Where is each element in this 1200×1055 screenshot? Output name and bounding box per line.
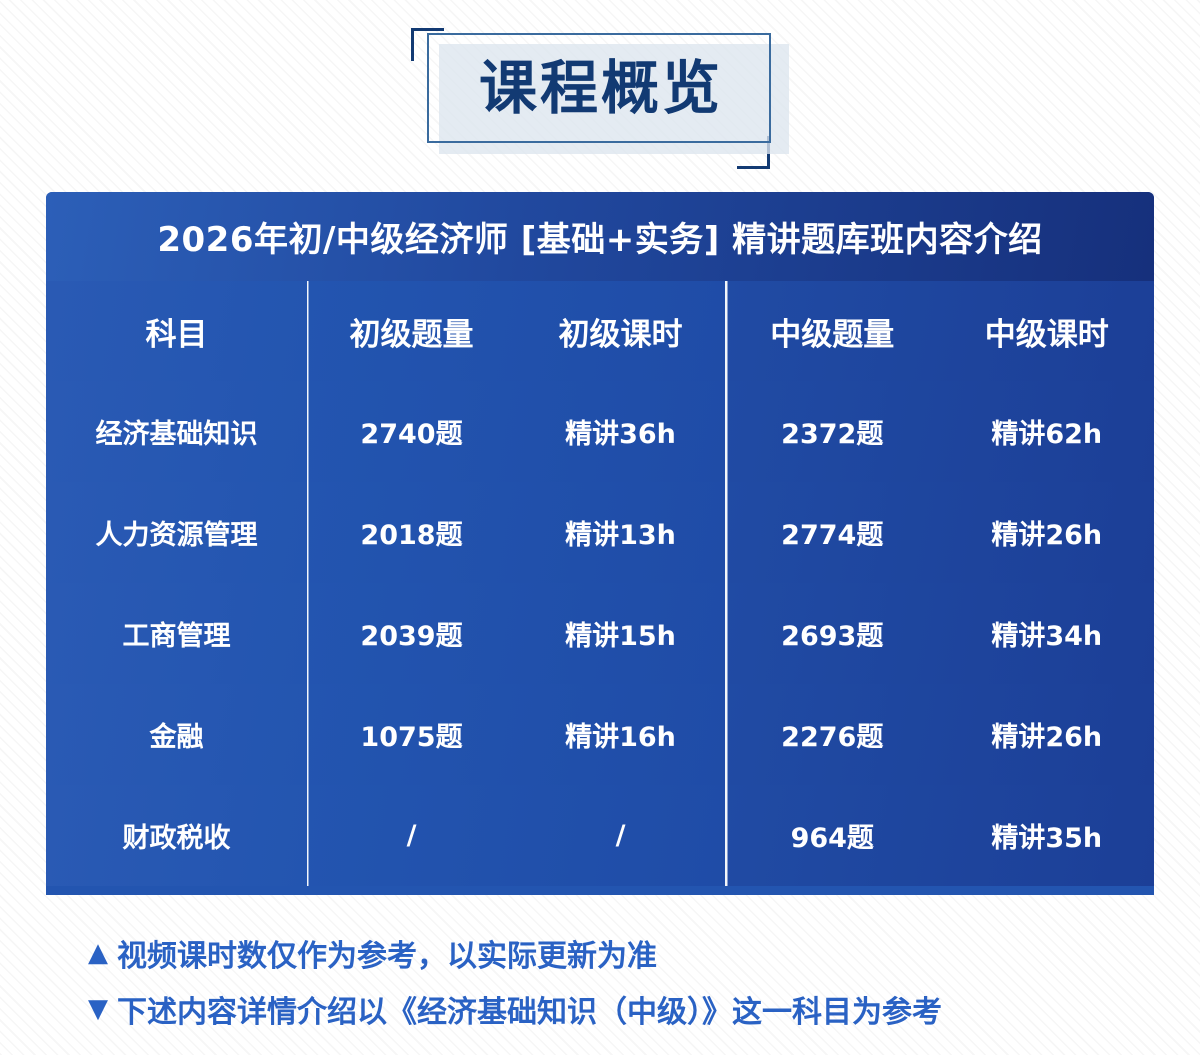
cell-intermediate-questions: 964题	[725, 785, 940, 886]
cell-intermediate-hours: 精讲26h	[940, 684, 1155, 785]
cell-primary-questions: 1075题	[307, 684, 516, 785]
header-label-intermediate-hours: 中级课时	[985, 309, 1109, 354]
table-row: 经济基础知识 2740题 精讲36h 2372题 精讲62h	[46, 381, 1154, 482]
column-group-intermediate: 中级题量 中级课时	[725, 281, 1154, 381]
cell-primary-hours: 精讲13h	[516, 482, 725, 583]
footnotes: ▲ 视频课时数仅作为参考，以实际更新为准 ▼ 下述内容详情介绍以《经济基础知识（…	[88, 925, 1148, 1037]
footnote-text: 下述内容详情介绍以《经济基础知识（中级）》这一科目为参考	[117, 987, 942, 1031]
table-row: 财政税收 / / 964题 精讲35h	[46, 785, 1154, 886]
row-group-subject: 经济基础知识	[46, 381, 307, 482]
header-cell-intermediate-hours: 中级课时	[940, 281, 1155, 381]
cell-value-intermediate-hours: 精讲62h	[991, 412, 1102, 451]
cell-value-primary-questions: 1075题	[360, 715, 462, 754]
table-header-row: 科目 初级题量 初级课时 中级题量 中级课时	[46, 281, 1154, 381]
cell-value-intermediate-questions: 2774题	[781, 513, 883, 552]
row-group-intermediate: 2693题 精讲34h	[725, 583, 1154, 684]
cell-primary-hours: /	[516, 785, 725, 886]
cell-value-primary-questions: 2039题	[360, 614, 462, 653]
cell-value-primary-questions: /	[407, 820, 417, 851]
page-title: 课程概览	[405, 52, 797, 124]
header-cell-intermediate-questions: 中级题量	[725, 281, 940, 381]
header-cell-primary-hours: 初级课时	[516, 281, 725, 381]
row-group-intermediate: 2372题 精讲62h	[725, 381, 1154, 482]
row-group-intermediate: 2774题 精讲26h	[725, 482, 1154, 583]
cell-value-primary-hours: 精讲36h	[565, 412, 676, 451]
table-row: 人力资源管理 2018题 精讲13h 2774题 精讲26h	[46, 482, 1154, 583]
row-group-primary: 2018题 精讲13h	[307, 482, 725, 583]
cell-subject: 金融	[46, 684, 307, 785]
cell-value-intermediate-hours: 精讲34h	[991, 614, 1102, 653]
cell-value-primary-hours: /	[616, 820, 626, 851]
table-caption: 2026年初/中级经济师 [基础+实务] 精讲题库班内容介绍	[157, 212, 1042, 261]
cell-value-primary-questions: 2740题	[360, 412, 462, 451]
course-overview-table: 2026年初/中级经济师 [基础+实务] 精讲题库班内容介绍 科目 初级题量 初…	[46, 192, 1154, 895]
table-row: 金融 1075题 精讲16h 2276题 精讲26h	[46, 684, 1154, 785]
cell-primary-questions: 2740题	[307, 381, 516, 482]
cell-value-intermediate-hours: 精讲35h	[991, 816, 1102, 855]
cell-value-intermediate-questions: 964题	[791, 816, 874, 855]
cell-value-primary-questions: 2018题	[360, 513, 462, 552]
row-group-primary: 2740题 精讲36h	[307, 381, 725, 482]
cell-primary-questions: /	[307, 785, 516, 886]
cell-intermediate-hours: 精讲34h	[940, 583, 1155, 684]
header-label-subject: 科目	[146, 309, 208, 354]
page-title-block: 课程概览	[405, 22, 797, 162]
row-group-intermediate: 2276题 精讲26h	[725, 684, 1154, 785]
row-group-subject: 金融	[46, 684, 307, 785]
cell-primary-hours: 精讲36h	[516, 381, 725, 482]
header-label-primary-hours: 初级课时	[559, 309, 683, 354]
header-label-intermediate-questions: 中级题量	[770, 309, 894, 354]
cell-value-subject: 工商管理	[123, 614, 231, 653]
cell-value-intermediate-hours: 精讲26h	[991, 513, 1102, 552]
footnote-text: 视频课时数仅作为参考，以实际更新为准	[117, 931, 657, 975]
cell-value-primary-hours: 精讲16h	[565, 715, 676, 754]
cell-intermediate-questions: 2774题	[725, 482, 940, 583]
row-group-intermediate: 964题 精讲35h	[725, 785, 1154, 886]
header-cell-primary-questions: 初级题量	[307, 281, 516, 381]
cell-primary-hours: 精讲16h	[516, 684, 725, 785]
row-group-primary: 2039题 精讲15h	[307, 583, 725, 684]
cell-intermediate-hours: 精讲62h	[940, 381, 1155, 482]
cell-subject: 经济基础知识	[46, 381, 307, 482]
cell-intermediate-hours: 精讲26h	[940, 482, 1155, 583]
cell-intermediate-questions: 2276题	[725, 684, 940, 785]
header-label-primary-questions: 初级题量	[350, 309, 474, 354]
triangle-down-icon: ▼	[88, 996, 108, 1022]
column-group-primary: 初级题量 初级课时	[307, 281, 725, 381]
cell-primary-hours: 精讲15h	[516, 583, 725, 684]
cell-intermediate-hours: 精讲35h	[940, 785, 1155, 886]
cell-value-subject: 人力资源管理	[96, 513, 258, 552]
cell-value-subject: 经济基础知识	[96, 412, 258, 451]
cell-value-intermediate-questions: 2372题	[781, 412, 883, 451]
row-group-primary: / /	[307, 785, 725, 886]
cell-value-intermediate-hours: 精讲26h	[991, 715, 1102, 754]
cell-value-intermediate-questions: 2276题	[781, 715, 883, 754]
cell-value-subject: 财政税收	[123, 816, 231, 855]
cell-value-subject: 金融	[150, 715, 204, 754]
row-group-subject: 财政税收	[46, 785, 307, 886]
table-caption-bar: 2026年初/中级经济师 [基础+实务] 精讲题库班内容介绍	[46, 192, 1154, 281]
footnote-item: ▼ 下述内容详情介绍以《经济基础知识（中级）》这一科目为参考	[88, 981, 1148, 1037]
row-group-primary: 1075题 精讲16h	[307, 684, 725, 785]
page-background: 课程概览 2026年初/中级经济师 [基础+实务] 精讲题库班内容介绍 科目 初…	[0, 0, 1200, 1055]
header-cell-subject: 科目	[46, 281, 307, 381]
cell-primary-questions: 2039题	[307, 583, 516, 684]
cell-intermediate-questions: 2693题	[725, 583, 940, 684]
column-group-subject: 科目	[46, 281, 307, 381]
cell-primary-questions: 2018题	[307, 482, 516, 583]
footnote-item: ▲ 视频课时数仅作为参考，以实际更新为准	[88, 925, 1148, 981]
triangle-up-icon: ▲	[88, 940, 108, 966]
cell-subject: 人力资源管理	[46, 482, 307, 583]
cell-subject: 财政税收	[46, 785, 307, 886]
cell-value-primary-hours: 精讲15h	[565, 614, 676, 653]
table-row: 工商管理 2039题 精讲15h 2693题 精讲34h	[46, 583, 1154, 684]
cell-value-intermediate-questions: 2693题	[781, 614, 883, 653]
row-group-subject: 人力资源管理	[46, 482, 307, 583]
cell-value-primary-hours: 精讲13h	[565, 513, 676, 552]
row-group-subject: 工商管理	[46, 583, 307, 684]
cell-subject: 工商管理	[46, 583, 307, 684]
cell-intermediate-questions: 2372题	[725, 381, 940, 482]
